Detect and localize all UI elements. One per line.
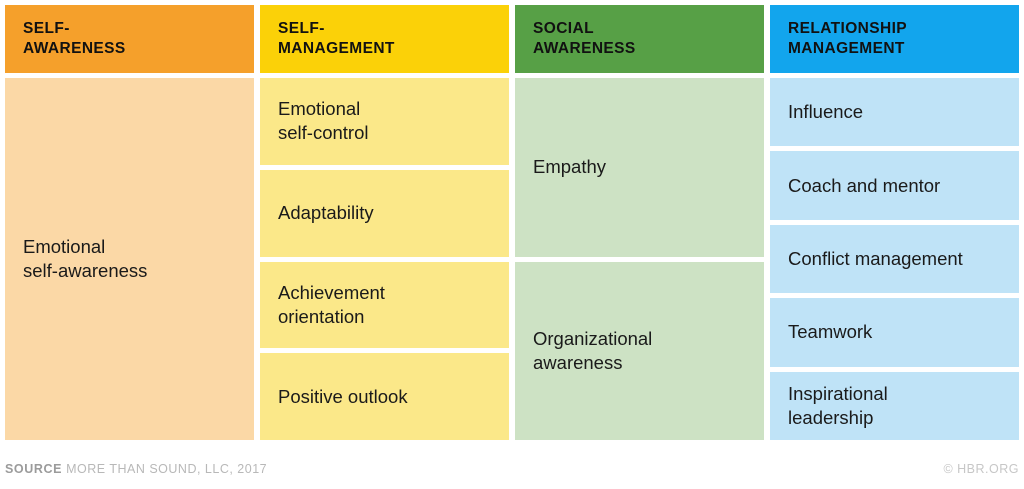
competency-label-line: orientation xyxy=(278,305,385,329)
domain-column-social-awareness: SOCIALAWARENESSEmpathyOrganizationalawar… xyxy=(515,5,764,440)
domain-header-line: AWARENESS xyxy=(23,39,236,59)
competency-cell-influence: Influence xyxy=(770,78,1019,146)
domain-header-self-awareness: SELF-AWARENESS xyxy=(5,5,254,73)
competency-cell-achievement-orientation: Achievementorientation xyxy=(260,262,509,349)
competency-label: Emotionalself-awareness xyxy=(23,235,147,283)
competency-label-line: Positive outlook xyxy=(278,385,408,409)
source-text: MORE THAN SOUND, LLC, 2017 xyxy=(66,462,267,476)
domains-grid: SELF-AWARENESSEmotionalself-awarenessSEL… xyxy=(5,5,1019,440)
competency-label: Organizationalawareness xyxy=(533,327,652,375)
competency-label-line: Organizational xyxy=(533,327,652,351)
competency-label: Empathy xyxy=(533,155,606,179)
competency-label-line: self-awareness xyxy=(23,259,147,283)
competency-label: Coach and mentor xyxy=(788,174,940,198)
competency-label-line: Inspirational xyxy=(788,382,888,406)
competency-list-social-awareness: EmpathyOrganizationalawareness xyxy=(515,78,764,440)
competency-label-line: Adaptability xyxy=(278,201,374,225)
competency-cell-positive-outlook: Positive outlook xyxy=(260,353,509,440)
competency-label-line: Emotional xyxy=(278,97,368,121)
domain-header-line: SELF- xyxy=(278,19,491,39)
competency-cell-empathy: Empathy xyxy=(515,78,764,257)
competency-cell-emotional-self-control: Emotionalself-control xyxy=(260,78,509,165)
competency-cell-coach-and-mentor: Coach and mentor xyxy=(770,151,1019,219)
competency-cell-teamwork: Teamwork xyxy=(770,298,1019,366)
source-attribution: SOURCE MORE THAN SOUND, LLC, 2017 xyxy=(5,462,267,476)
domain-header-relationship-management: RELATIONSHIPMANAGEMENT xyxy=(770,5,1019,73)
competency-label: Influence xyxy=(788,100,863,124)
domain-header-line: AWARENESS xyxy=(533,39,746,59)
chart-footer: SOURCE MORE THAN SOUND, LLC, 2017 © HBR.… xyxy=(5,459,1019,479)
competency-label: Positive outlook xyxy=(278,385,408,409)
competency-label-line: Influence xyxy=(788,100,863,124)
competency-label-line: leadership xyxy=(788,406,888,430)
competency-cell-conflict-management: Conflict management xyxy=(770,225,1019,293)
competency-label-line: Teamwork xyxy=(788,320,872,344)
domain-header-line: MANAGEMENT xyxy=(278,39,491,59)
competency-list-relationship-management: InfluenceCoach and mentorConflict manage… xyxy=(770,78,1019,440)
competency-label-line: awareness xyxy=(533,351,652,375)
competency-label-line: self-control xyxy=(278,121,368,145)
competency-cell-emotional-self-awareness: Emotionalself-awareness xyxy=(5,78,254,440)
domain-header-line: SELF- xyxy=(23,19,236,39)
domain-header-self-management: SELF-MANAGEMENT xyxy=(260,5,509,73)
competency-label: Achievementorientation xyxy=(278,281,385,329)
competency-label: Conflict management xyxy=(788,247,963,271)
source-label: SOURCE xyxy=(5,462,62,476)
competency-label-line: Emotional xyxy=(23,235,147,259)
competency-cell-organizational-awareness: Organizationalawareness xyxy=(515,262,764,441)
domain-header-social-awareness: SOCIALAWARENESS xyxy=(515,5,764,73)
domain-header-line: SOCIAL xyxy=(533,19,746,39)
competency-label-line: Achievement xyxy=(278,281,385,305)
competency-label-line: Coach and mentor xyxy=(788,174,940,198)
competency-cell-adaptability: Adaptability xyxy=(260,170,509,257)
domain-header-line: RELATIONSHIP xyxy=(788,19,1001,39)
domain-header-line: MANAGEMENT xyxy=(788,39,1001,59)
competency-label: Inspirationalleadership xyxy=(788,382,888,430)
competency-cell-inspirational-leadership: Inspirationalleadership xyxy=(770,372,1019,440)
competency-label-line: Conflict management xyxy=(788,247,963,271)
emotional-intelligence-domains-chart: SELF-AWARENESSEmotionalself-awarenessSEL… xyxy=(0,0,1024,489)
competency-label-line: Empathy xyxy=(533,155,606,179)
competency-label: Emotionalself-control xyxy=(278,97,368,145)
publisher-credit: © HBR.ORG xyxy=(943,462,1019,476)
domain-column-relationship-management: RELATIONSHIPMANAGEMENTInfluenceCoach and… xyxy=(770,5,1019,440)
domain-column-self-management: SELF-MANAGEMENTEmotionalself-controlAdap… xyxy=(260,5,509,440)
competency-list-self-management: Emotionalself-controlAdaptabilityAchieve… xyxy=(260,78,509,440)
domain-column-self-awareness: SELF-AWARENESSEmotionalself-awareness xyxy=(5,5,254,440)
competency-list-self-awareness: Emotionalself-awareness xyxy=(5,78,254,440)
competency-label: Teamwork xyxy=(788,320,872,344)
competency-label: Adaptability xyxy=(278,201,374,225)
